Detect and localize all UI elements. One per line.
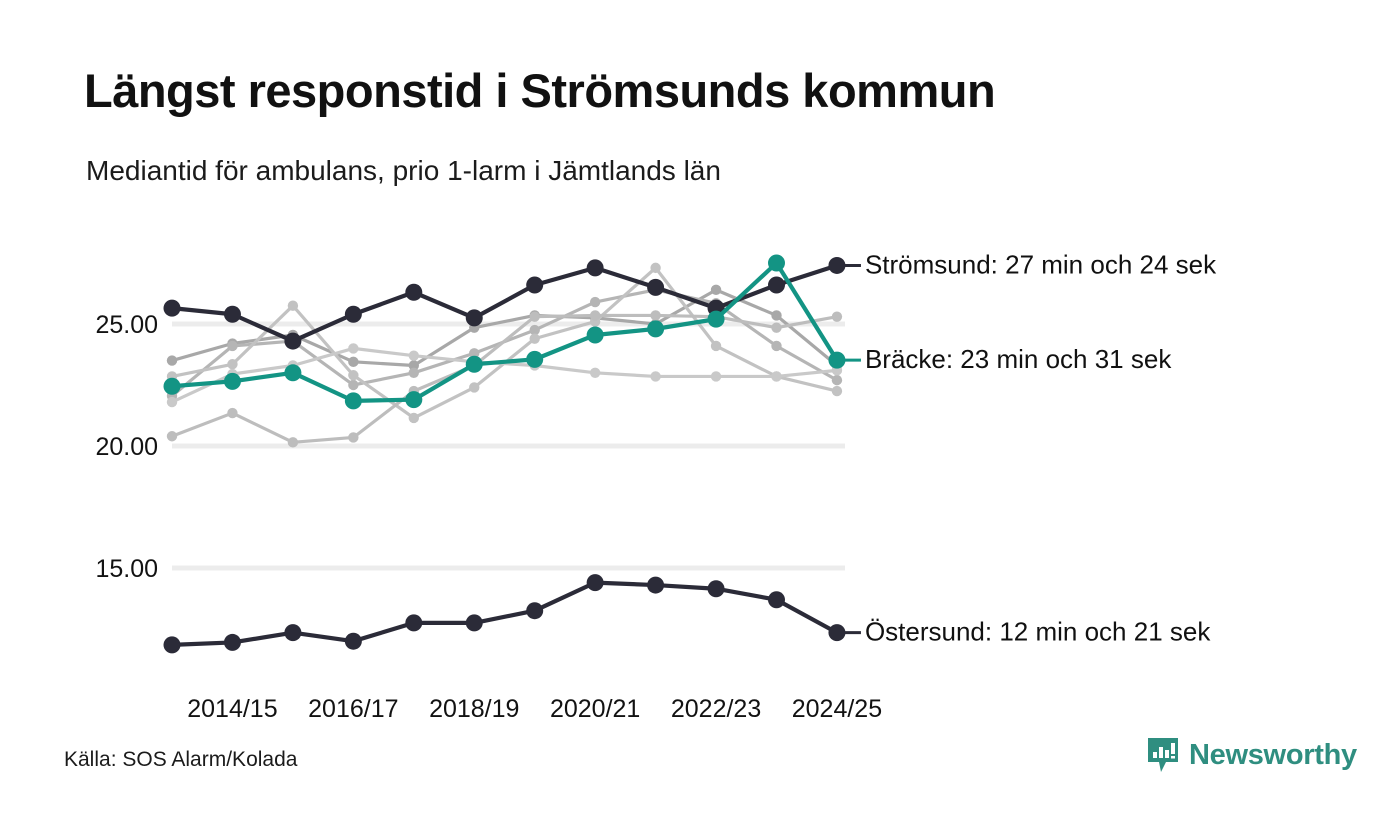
data-point (466, 614, 483, 631)
data-point (530, 333, 540, 343)
data-point (466, 309, 483, 326)
x-axis-tick-labels: 2014/152016/172018/192020/212022/232024/… (187, 695, 882, 723)
data-point (587, 574, 604, 591)
context-series-lines (167, 263, 842, 448)
data-point (469, 382, 479, 392)
data-point (409, 413, 419, 423)
data-point (828, 257, 845, 274)
x-tick-label: 2022/23 (671, 695, 761, 723)
data-point (771, 310, 781, 320)
x-tick-label: 2020/21 (550, 695, 640, 723)
x-tick-label: 2024/25 (792, 695, 882, 723)
data-point (650, 310, 660, 320)
data-point (345, 306, 362, 323)
data-point (587, 259, 604, 276)
series-end-label: Östersund: 12 min och 21 sek (865, 617, 1211, 647)
data-point (708, 580, 725, 597)
bar-chart-speech-bubble-icon (1146, 736, 1180, 774)
data-point (647, 577, 664, 594)
data-point (466, 356, 483, 373)
data-point (832, 386, 842, 396)
line-chart: 15.0020.0025.00 2014/152016/172018/19202… (0, 0, 1400, 840)
data-point (348, 343, 358, 353)
data-point (405, 614, 422, 631)
data-point (348, 357, 358, 367)
data-point (409, 351, 419, 361)
data-point (590, 297, 600, 307)
x-tick-label: 2016/17 (308, 695, 398, 723)
data-point (650, 263, 660, 273)
data-point (348, 370, 358, 380)
data-point (832, 311, 842, 321)
y-tick-label: 20.00 (95, 433, 158, 461)
data-point (409, 368, 419, 378)
data-point (768, 591, 785, 608)
data-point (587, 326, 604, 343)
chart-page: Längst responstid i Strömsunds kommun Me… (0, 0, 1400, 840)
data-point (708, 311, 725, 328)
data-point (771, 371, 781, 381)
data-point (164, 300, 181, 317)
source-note: Källa: SOS Alarm/Kolada (64, 748, 297, 772)
y-axis-tick-labels: 15.0020.0025.00 (95, 311, 158, 583)
x-tick-label: 2018/19 (429, 695, 519, 723)
data-point (348, 380, 358, 390)
data-point (167, 397, 177, 407)
data-point (345, 392, 362, 409)
highlight-series-lines (164, 255, 846, 654)
data-point (227, 408, 237, 418)
data-point (284, 624, 301, 641)
data-point (224, 306, 241, 323)
data-point (224, 634, 241, 651)
data-point (224, 373, 241, 390)
data-point (832, 375, 842, 385)
y-tick-label: 15.00 (95, 555, 158, 583)
data-point (768, 276, 785, 293)
data-point (164, 378, 181, 395)
logo-wordmark: Newsworthy (1189, 739, 1357, 772)
data-point (284, 333, 301, 350)
data-point (227, 341, 237, 351)
data-point (288, 437, 298, 447)
data-point (650, 371, 660, 381)
data-point (530, 311, 540, 321)
series-line (172, 265, 837, 341)
data-point (768, 255, 785, 272)
data-point (711, 341, 721, 351)
series-end-label: Strömsund: 27 min och 24 sek (865, 249, 1217, 279)
data-point (828, 352, 845, 369)
data-point (771, 322, 781, 332)
series-line (172, 315, 837, 442)
data-point (348, 432, 358, 442)
data-point (405, 284, 422, 301)
data-point (526, 276, 543, 293)
newsworthy-logo[interactable]: Newsworthy (1146, 736, 1357, 774)
data-point (345, 633, 362, 650)
data-point (771, 341, 781, 351)
chart-plot-area: 15.0020.0025.00 2014/152016/172018/19202… (0, 0, 1400, 840)
x-tick-label: 2014/15 (187, 695, 277, 723)
data-point (227, 359, 237, 369)
y-tick-label: 25.00 (95, 311, 158, 339)
series-end-label: Bräcke: 23 min och 31 sek (865, 344, 1172, 374)
series-end-labels: Strömsund: 27 min och 24 sekBräcke: 23 m… (844, 249, 1217, 646)
data-point (590, 310, 600, 320)
data-point (647, 320, 664, 337)
data-point (711, 285, 721, 295)
data-point (167, 355, 177, 365)
data-point (711, 371, 721, 381)
series-line (172, 583, 837, 645)
data-point (647, 279, 664, 296)
data-point (526, 351, 543, 368)
data-point (590, 368, 600, 378)
data-point (828, 624, 845, 641)
data-point (405, 391, 422, 408)
data-point (167, 431, 177, 441)
data-point (284, 364, 301, 381)
data-point (164, 636, 181, 653)
data-point (526, 602, 543, 619)
data-point (288, 301, 298, 311)
